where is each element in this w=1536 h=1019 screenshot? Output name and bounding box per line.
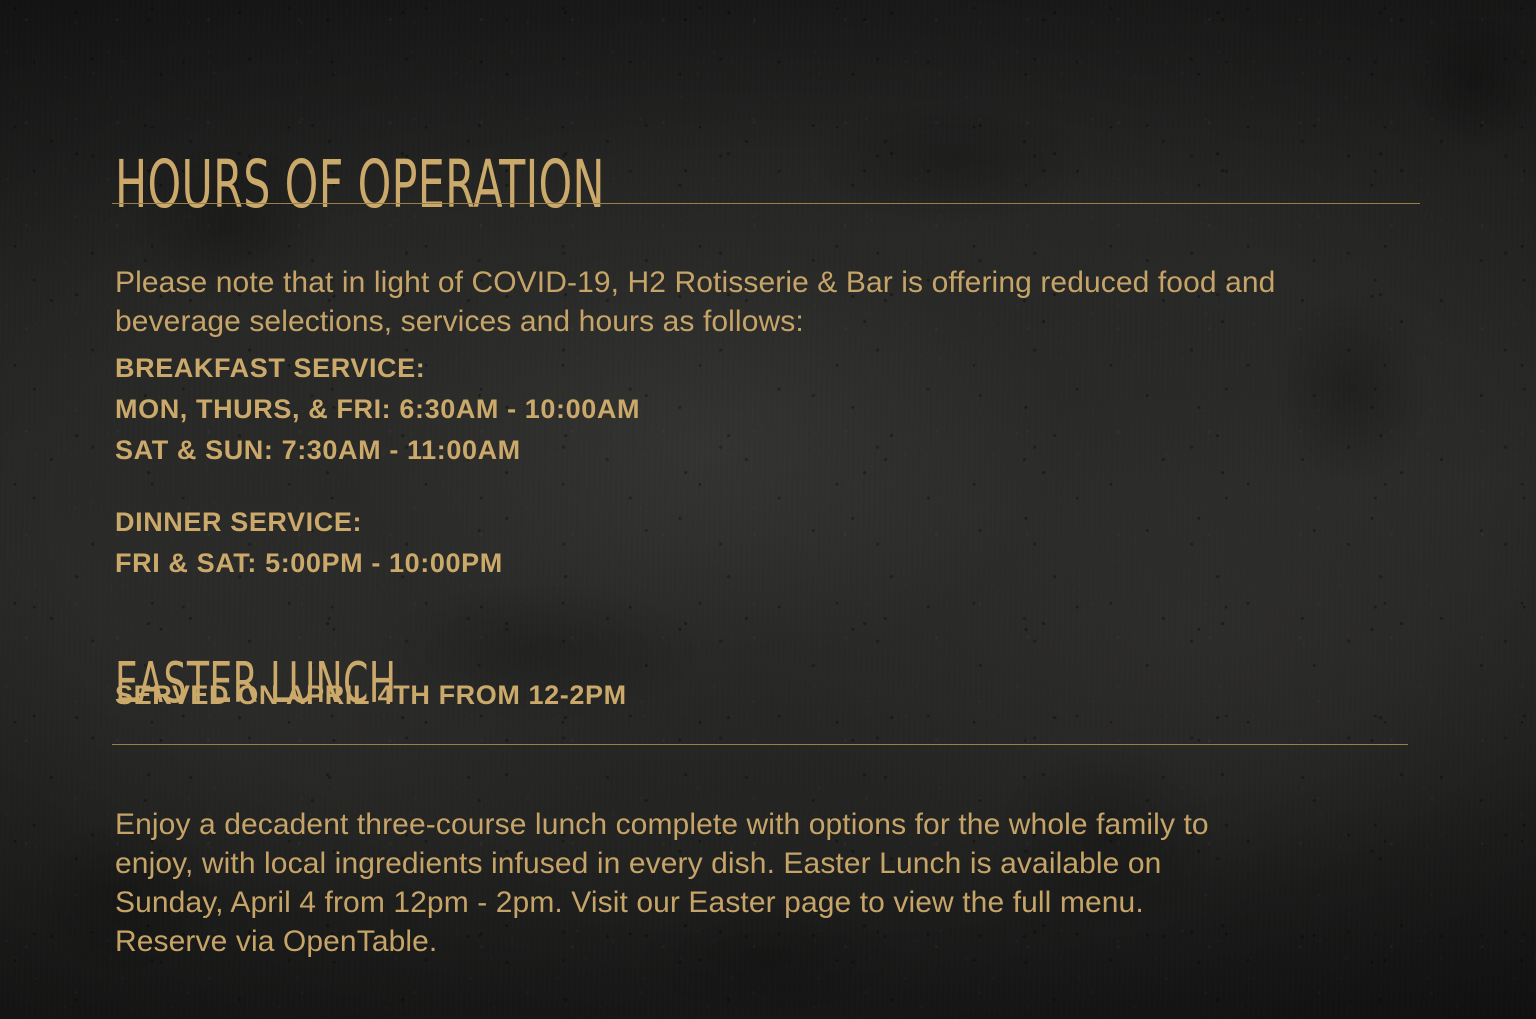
easter-lunch-subheading: SERVED ON APRIL 4TH FROM 12-2PM: [115, 679, 627, 711]
dinner-service-hours: DINNER SERVICE: FRI & SAT: 5:00PM - 10:0…: [115, 502, 503, 584]
page-title: HOURS OF OPERATION: [115, 152, 605, 218]
intro-paragraph: Please note that in light of COVID-19, H…: [115, 263, 1365, 341]
divider-bottom: [112, 744, 1408, 745]
divider-top: [112, 203, 1420, 204]
breakfast-service-hours: BREAKFAST SERVICE: MON, THURS, & FRI: 6:…: [115, 348, 640, 471]
easter-lunch-description: Enjoy a decadent three-course lunch comp…: [115, 805, 1225, 961]
